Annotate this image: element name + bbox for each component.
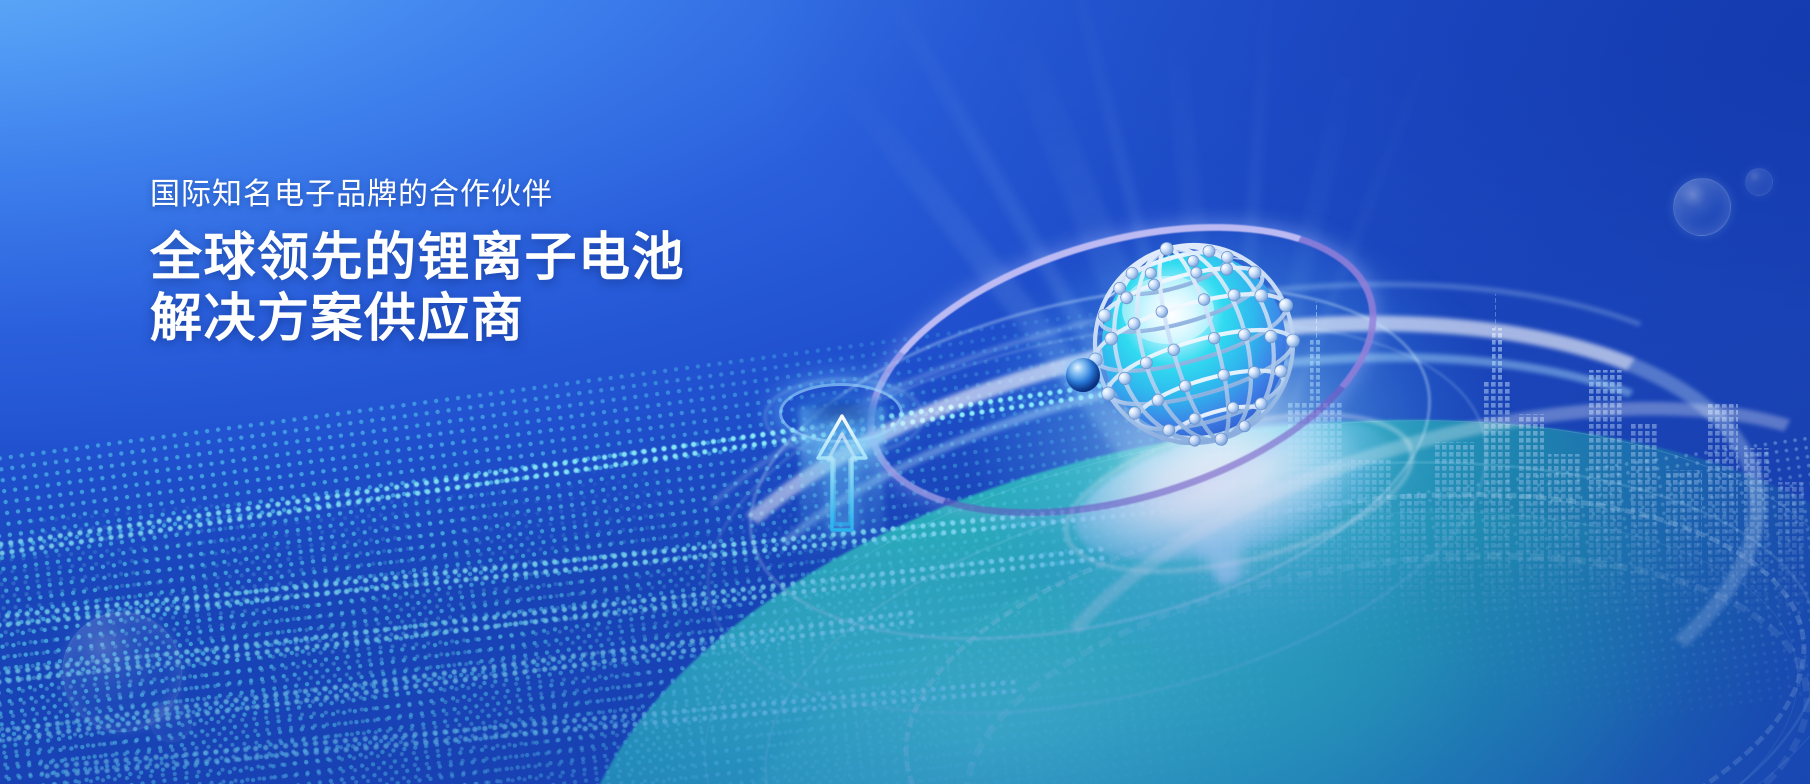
headline-line-2: 解决方案供应商 (150, 289, 910, 350)
hero-copy: 国际知名电子品牌的合作伙伴 全球领先的锂离子电池 解决方案供应商 (150, 176, 910, 350)
orbit-node-icon (1066, 358, 1100, 392)
up-arrow-icon (812, 412, 872, 532)
banner-eyebrow: 国际知名电子品牌的合作伙伴 (150, 176, 910, 214)
hero-banner: 国际知名电子品牌的合作伙伴 全球领先的锂离子电池 解决方案供应商 (0, 0, 1810, 784)
bubble-icon (1745, 168, 1773, 196)
headline-line-1: 全球领先的锂离子电池 (150, 228, 910, 289)
bubble-icon (150, 700, 192, 742)
page-title: 全球领先的锂离子电池 解决方案供应商 (150, 228, 910, 351)
bubble-icon (1673, 178, 1731, 236)
wireframe-globe-icon (1078, 228, 1310, 460)
